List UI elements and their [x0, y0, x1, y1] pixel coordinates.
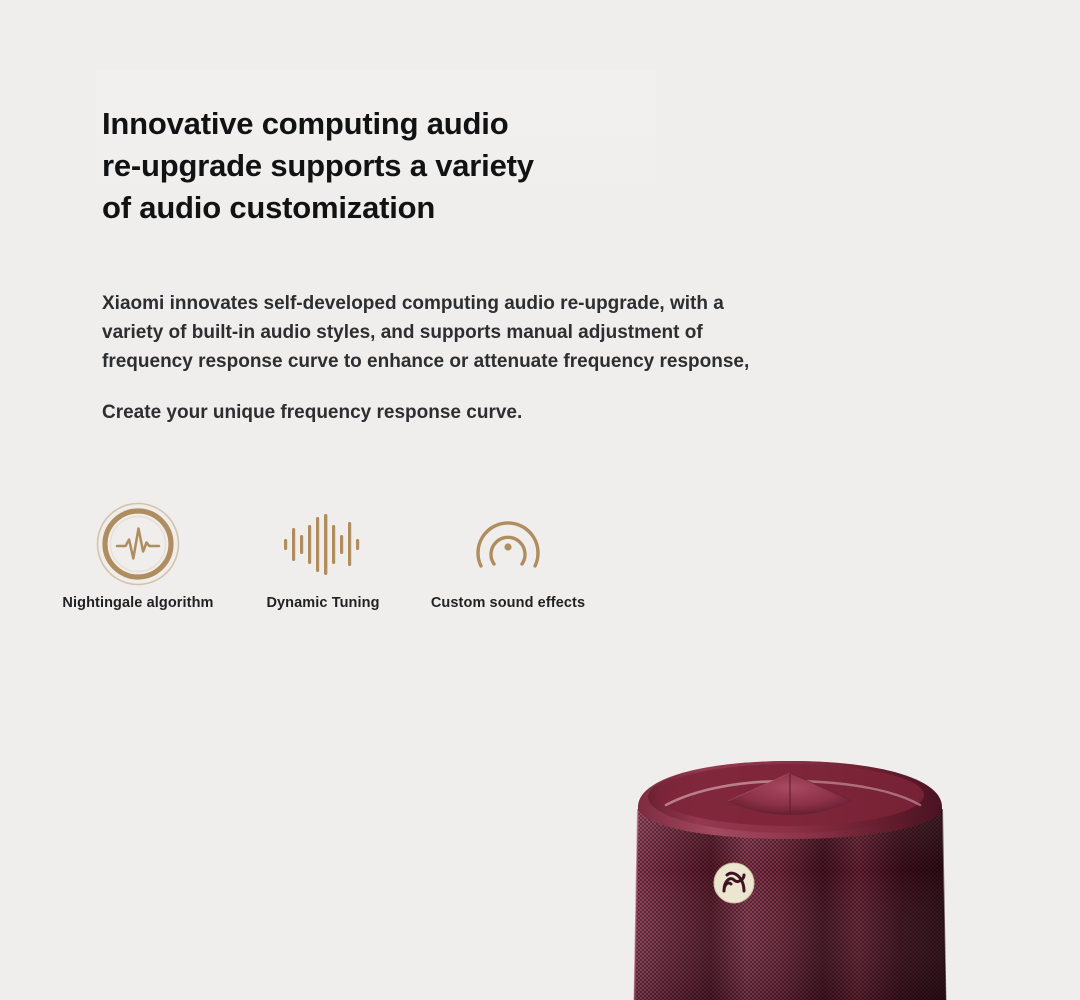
- nfc-logo-badge: [714, 863, 754, 903]
- page-title: Innovative computing audio re-upgrade su…: [102, 103, 742, 229]
- headline-line-2: re-upgrade supports a variety: [102, 145, 742, 187]
- feature-label-custom-sound-effects: Custom sound effects: [393, 595, 623, 611]
- headline-line-1: Innovative computing audio: [102, 103, 742, 145]
- feature-item-custom-sound-effects: Custom sound effects: [393, 500, 623, 611]
- body-line-3: frequency response curve to enhance or a…: [102, 347, 912, 376]
- smart-speaker-product-image: [600, 735, 1020, 1000]
- feature-list: Nightingale algorithm: [0, 500, 1080, 640]
- headline-line-3: of audio customization: [102, 187, 742, 229]
- body-paragraph-2: Create your unique frequency response cu…: [102, 398, 802, 427]
- broadcast-signal-waves-icon: [393, 500, 623, 588]
- body-line-1: Xiaomi innovates self-developed computin…: [102, 289, 912, 318]
- body-line-2: variety of built-in audio styles, and su…: [102, 318, 912, 347]
- body-paragraph-1: Xiaomi innovates self-developed computin…: [102, 289, 912, 376]
- product-marketing-page: Innovative computing audio re-upgrade su…: [0, 0, 1080, 1000]
